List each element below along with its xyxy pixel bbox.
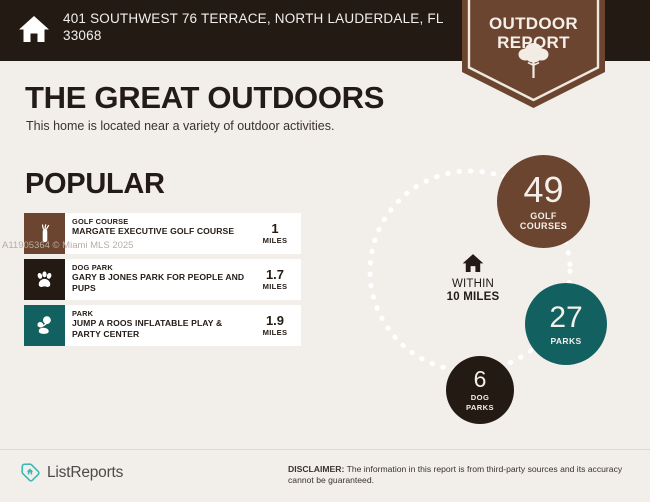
poi-distance-unit: MILES bbox=[263, 282, 288, 291]
header-content: 401 SOUTHWEST 76 TERRACE, NORTH LAUDERDA… bbox=[18, 10, 448, 45]
stat-label-line1: DOG bbox=[471, 393, 490, 403]
golf-bag-icon bbox=[34, 223, 56, 245]
stat-value: 27 bbox=[549, 303, 582, 333]
poi-category: DOG PARK bbox=[72, 263, 251, 272]
home-icon bbox=[18, 13, 50, 45]
outdoor-report-badge: OUTDOOR REPORT bbox=[462, 0, 605, 108]
within-line1: WITHIN bbox=[425, 278, 521, 291]
badge-title-line1: OUTDOOR bbox=[462, 14, 605, 33]
home-icon bbox=[462, 252, 484, 274]
list-item[interactable]: GOLF COURSE MARGATE EXECUTIVE GOLF COURS… bbox=[24, 213, 301, 254]
poi-category: GOLF COURSE bbox=[72, 217, 251, 226]
listreports-house-tag-icon bbox=[20, 462, 41, 483]
popular-heading: POPULAR bbox=[25, 168, 165, 201]
listreports-logo[interactable]: ListReports bbox=[20, 462, 123, 483]
stat-value: 49 bbox=[523, 172, 563, 208]
poi-distance: 1.7 MILES bbox=[253, 259, 301, 300]
property-address: 401 SOUTHWEST 76 TERRACE, NORTH LAUDERDA… bbox=[63, 10, 448, 44]
stat-value: 6 bbox=[474, 368, 487, 391]
within-radius-label: WITHIN 10 MILES bbox=[425, 252, 521, 304]
poi-name: GARY B JONES PARK FOR PEOPLE AND PUPS bbox=[72, 272, 251, 293]
poi-distance: 1.9 MILES bbox=[253, 305, 301, 346]
park-trees-icon bbox=[33, 314, 56, 337]
listreports-logo-text: ListReports bbox=[47, 464, 123, 482]
stat-label-line1: GOLF bbox=[530, 211, 557, 221]
poi-distance-value: 1 bbox=[271, 222, 278, 236]
disclaimer-label: DISCLAIMER: bbox=[288, 464, 344, 474]
within-line2: 10 MILES bbox=[425, 291, 521, 304]
poi-distance-unit: MILES bbox=[263, 236, 288, 245]
poi-category: PARK bbox=[72, 309, 251, 318]
stat-label-line2: COURSES bbox=[520, 221, 567, 231]
poi-icon-tile bbox=[24, 213, 65, 254]
stat-circle-dog-parks: 6 DOG PARKS bbox=[446, 356, 514, 424]
stat-circle-parks: 27 PARKS bbox=[525, 283, 607, 365]
poi-text: GOLF COURSE MARGATE EXECUTIVE GOLF COURS… bbox=[65, 213, 253, 254]
list-item[interactable]: PARK JUMP A ROOS INFLATABLE PLAY & PARTY… bbox=[24, 305, 301, 346]
poi-name: MARGATE EXECUTIVE GOLF COURSE bbox=[72, 226, 251, 237]
badge-title: OUTDOOR REPORT bbox=[462, 14, 605, 52]
stat-label-line2: PARKS bbox=[466, 403, 494, 413]
list-item[interactable]: DOG PARK GARY B JONES PARK FOR PEOPLE AN… bbox=[24, 259, 301, 300]
page-title: THE GREAT OUTDOORS bbox=[25, 80, 384, 116]
page-subtitle: This home is located near a variety of o… bbox=[26, 119, 334, 133]
popular-list: GOLF COURSE MARGATE EXECUTIVE GOLF COURS… bbox=[24, 213, 301, 351]
poi-icon-tile bbox=[24, 259, 65, 300]
poi-distance-value: 1.9 bbox=[266, 314, 284, 328]
poi-text: DOG PARK GARY B JONES PARK FOR PEOPLE AN… bbox=[65, 259, 253, 300]
footer-divider bbox=[0, 449, 650, 450]
disclaimer: DISCLAIMER: The information in this repo… bbox=[288, 464, 638, 486]
stat-circle-golf-courses: 49 GOLF COURSES bbox=[497, 155, 590, 248]
paw-icon bbox=[33, 268, 56, 291]
stat-label-line1: PARKS bbox=[550, 336, 581, 346]
poi-distance-unit: MILES bbox=[263, 328, 288, 337]
poi-name: JUMP A ROOS INFLATABLE PLAY & PARTY CENT… bbox=[72, 318, 251, 339]
poi-text: PARK JUMP A ROOS INFLATABLE PLAY & PARTY… bbox=[65, 305, 253, 346]
badge-title-line2: REPORT bbox=[462, 33, 605, 52]
poi-icon-tile bbox=[24, 305, 65, 346]
poi-distance: 1 MILES bbox=[253, 213, 301, 254]
poi-distance-value: 1.7 bbox=[266, 268, 284, 282]
